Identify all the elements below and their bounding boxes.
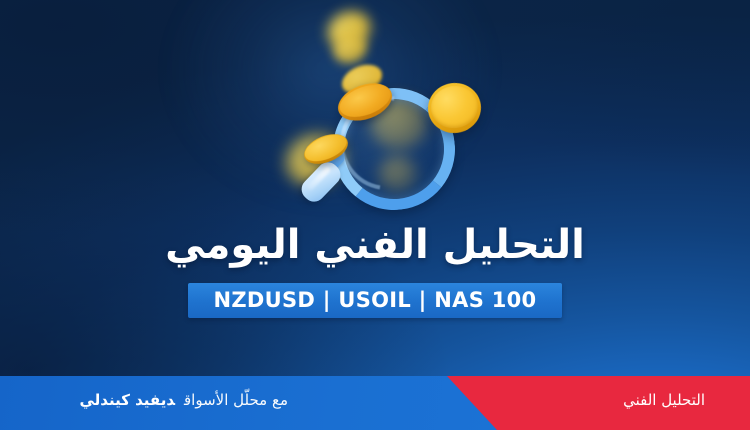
promo-banner: التحليل الفني اليومي NZDUSD | USOIL | NA… [0, 0, 750, 430]
footer-category-label: التحليل الفني [623, 391, 705, 409]
page-title: التحليل الفني اليومي [0, 222, 750, 268]
footer-bar: مع محلّل الأسواقديفيد كيندلي التحليل الف… [0, 376, 750, 430]
badge-container: NZDUSD | USOIL | NAS 100 [0, 283, 750, 318]
instruments-badge: NZDUSD | USOIL | NAS 100 [188, 283, 563, 318]
footer-analyst-credit: مع محلّل الأسواقديفيد كيندلي [79, 391, 288, 409]
footer-analyst-lead: مع محلّل الأسواق [184, 391, 288, 409]
headline-container: التحليل الفني اليومي [0, 222, 750, 268]
footer-analyst-name: ديفيد كيندلي [79, 391, 175, 409]
background-glow [165, 0, 495, 209]
